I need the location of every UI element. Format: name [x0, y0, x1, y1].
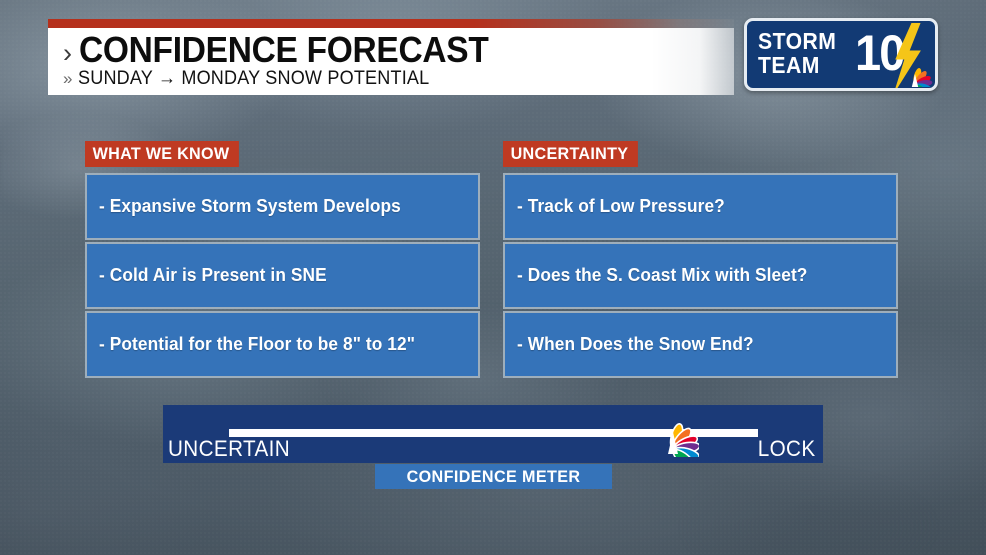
header-title-row: › CONFIDENCE FORECAST [63, 32, 519, 68]
logo-line-team: TEAM [758, 53, 836, 77]
header-subtitle-row: » SUNDAY → MONDAY SNOW POTENTIAL [63, 69, 448, 88]
fact-text: - Potential for the Floor to be 8" to 12… [99, 335, 415, 355]
logo-line-storm: STORM [758, 29, 836, 53]
fact-box[interactable]: - Track of Low Pressure? [503, 173, 898, 240]
confidence-meter-caption-text: CONFIDENCE METER [407, 468, 581, 485]
confidence-meter-caption: CONFIDENCE METER [375, 464, 612, 489]
logo-wordmark: STORM TEAM [758, 29, 836, 77]
page-subtitle: SUNDAY → MONDAY SNOW POTENTIAL [78, 69, 429, 88]
header-red-strip [48, 19, 734, 28]
nbc-peacock-marker-icon[interactable] [647, 407, 699, 457]
fact-box[interactable]: - Potential for the Floor to be 8" to 12… [85, 311, 480, 378]
weather-graphic-stage: › CONFIDENCE FORECAST » SUNDAY → MONDAY … [0, 0, 986, 555]
fact-text: - Track of Low Pressure? [517, 197, 725, 217]
fact-box-stack-right: - Track of Low Pressure? - Does the S. C… [503, 173, 898, 378]
fact-text: - Does the S. Coast Mix with Sleet? [517, 266, 807, 286]
fact-text: - When Does the Snow End? [517, 335, 754, 355]
header-banner: › CONFIDENCE FORECAST » SUNDAY → MONDAY … [48, 19, 734, 95]
column-uncertainty: UNCERTAINTY - Track of Low Pressure? - D… [503, 141, 898, 378]
fact-box[interactable]: - Does the S. Coast Mix with Sleet? [503, 242, 898, 309]
fact-box[interactable]: - Expansive Storm System Develops [85, 173, 480, 240]
chevron-double-right-icon: » [63, 70, 72, 87]
fact-box[interactable]: - When Does the Snow End? [503, 311, 898, 378]
chevron-right-icon: › [63, 40, 72, 67]
page-title: CONFIDENCE FORECAST [79, 32, 488, 68]
meter-label-uncertain: UNCERTAIN [168, 438, 290, 460]
confidence-meter-track[interactable] [229, 429, 758, 437]
column-header-what-we-know: WHAT WE KNOW [85, 141, 239, 167]
fact-box-stack-left: - Expansive Storm System Develops - Cold… [85, 173, 480, 378]
storm-team-10-logo: STORM TEAM 10 [744, 18, 938, 91]
fact-text: - Cold Air is Present in SNE [99, 266, 327, 286]
meter-label-lock: LOCK [758, 438, 816, 460]
column-header-uncertainty: UNCERTAINTY [503, 141, 638, 167]
confidence-meter-panel: UNCERTAIN LOCK [163, 405, 823, 463]
fact-text: - Expansive Storm System Develops [99, 197, 401, 217]
logo-inner: STORM TEAM 10 [747, 21, 935, 88]
column-what-we-know: WHAT WE KNOW - Expansive Storm System De… [85, 141, 480, 378]
nbc-peacock-icon [897, 59, 933, 87]
fact-box[interactable]: - Cold Air is Present in SNE [85, 242, 480, 309]
